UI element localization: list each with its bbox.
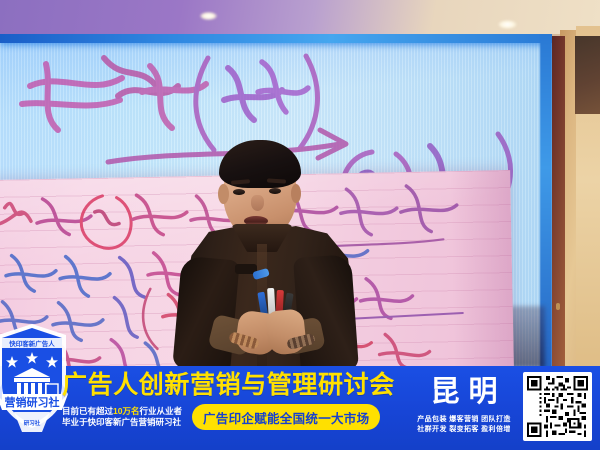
speaker-hand-right [265,308,307,356]
speaker-ear-right [291,184,301,203]
subtext-highlight: 10万名 [113,406,139,416]
spotlight-1 [200,12,217,20]
flipchart-shadow [450,170,514,367]
qr-code-image [527,376,588,437]
led-frame-top [0,34,552,43]
banner-text-block: 广告人创新营销与管理研讨会 目前已有超过10万名行业从业者 毕业于快印客新广告营… [62,370,407,448]
banner-subtext-line1: 目前已有超过10万名行业从业者 [62,406,182,418]
speaker-eye-left [233,189,245,195]
banner-sub-row: 目前已有超过10万名行业从业者 毕业于快印客新广告营销研习社 广告印企赋能全国统… [62,404,407,430]
speaker-ear-left [218,184,229,204]
banner-city-block: 昆明 产品包装 爆客营销 团队打造 社群开发 裂变拓客 盈利倍增 [416,374,512,435]
banner-pill-badge: 广告印企赋能全国统一大市场 [192,404,380,430]
subtext-prefix: 目前已有超过 [62,406,113,416]
subtext-suffix: 行业从业者 [139,406,182,416]
event-banner: 快印客新广告人 [0,366,600,450]
city-tags-row1: 产品包装 爆客营销 团队打造 [416,415,512,425]
speaker-eye-right [269,188,281,194]
banner-city-name: 昆明 [416,374,512,410]
svg-text:快印客新广告人: 快印客新广告人 [9,339,55,348]
banner-subtext: 目前已有超过10万名行业从业者 毕业于快印客新广告营销研习社 [62,406,182,429]
banner-headline: 广告人创新营销与管理研讨会 [62,370,407,400]
column-knob [556,303,560,310]
speaker-nose [251,195,264,211]
banner-city-tags: 产品包装 爆客营销 团队打造 社群开发 裂变拓客 盈利倍增 [416,415,512,435]
svg-text:研习社: 研习社 [24,419,41,427]
screenshot-root: 快印客新广告人 [0,0,600,450]
spotlight-2 [498,20,517,29]
qr-code[interactable] [523,372,592,441]
banner-subtext-line2: 毕业于快印客新广告营销研习社 [62,417,182,429]
wall-dark-panel [575,36,600,114]
speaker-figure [175,140,360,368]
conference-photo [0,0,600,368]
svg-text:营销研习社: 营销研习社 [5,395,60,409]
city-tags-row2: 社群开发 裂变拓客 盈利倍增 [416,425,512,435]
badge-crest-icon: 快印客新广告人 [0,322,68,440]
